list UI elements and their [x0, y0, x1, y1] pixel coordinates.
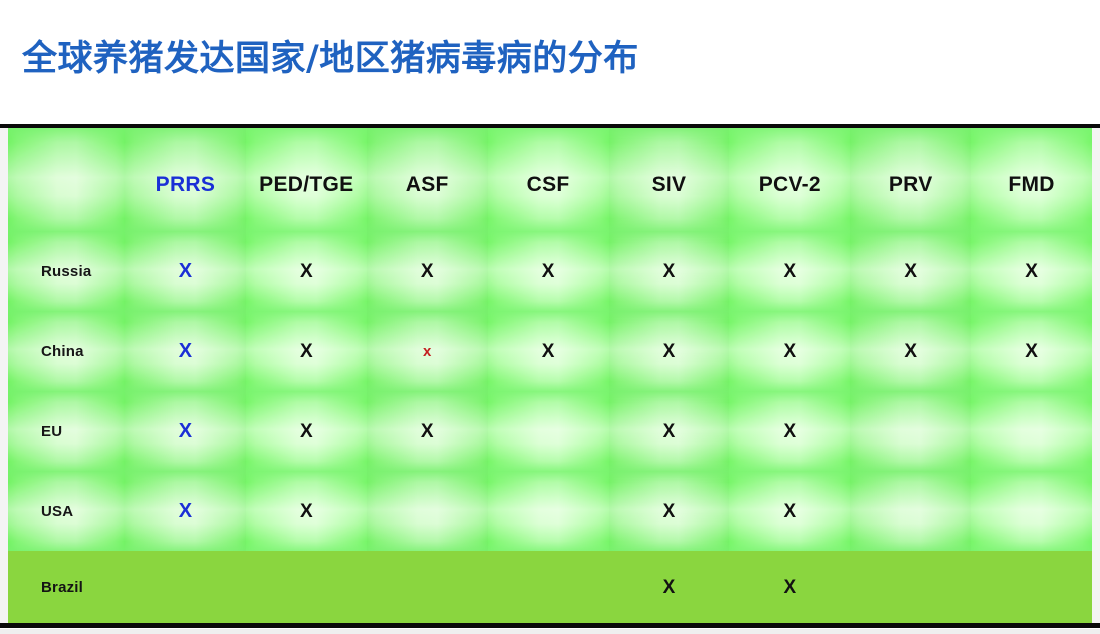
table-cell	[246, 551, 367, 623]
table-cell	[488, 391, 609, 471]
column-header-asf: ASF	[367, 128, 488, 231]
table-cell: X	[971, 231, 1092, 311]
cell-mark-x: X	[542, 262, 555, 281]
cell-mark-x: X	[663, 578, 676, 597]
cell-mark-x: X	[300, 502, 313, 521]
table-cell: X	[729, 471, 850, 551]
cell-mark-x: X	[904, 262, 917, 281]
column-header-csf: CSF	[488, 128, 609, 231]
table-cell: x	[367, 311, 488, 391]
cell-mark-x: X	[663, 262, 676, 281]
page-title: 全球养猪发达国家/地区猪病毒病的分布	[22, 36, 639, 82]
table-cell: X	[125, 391, 246, 471]
disease-distribution-table-frame: PRRSPED/TGEASFCSFSIVPCV-2PRVFMDRussiaXXX…	[0, 124, 1100, 628]
cell-mark-x: X	[663, 422, 676, 441]
table-cell: X	[850, 231, 971, 311]
table-cell: X	[246, 231, 367, 311]
table-cell	[367, 551, 488, 623]
row-label-usa: USA	[8, 471, 125, 551]
row-label-brazil: Brazil	[8, 551, 125, 623]
cell-mark-x: X	[783, 342, 796, 361]
table-cell: X	[609, 391, 730, 471]
table-cell: X	[609, 551, 730, 623]
cell-mark-x: X	[783, 502, 796, 521]
table-cell: X	[246, 391, 367, 471]
table-cell: X	[125, 311, 246, 391]
cell-mark-x: X	[421, 422, 434, 441]
table-cell: X	[729, 311, 850, 391]
table-grid: PRRSPED/TGEASFCSFSIVPCV-2PRVFMDRussiaXXX…	[8, 128, 1092, 623]
table-cell: X	[125, 471, 246, 551]
table-cell: X	[246, 471, 367, 551]
title-band: 全球养猪发达国家/地区猪病毒病的分布	[0, 0, 1100, 124]
disease-distribution-table: PRRSPED/TGEASFCSFSIVPCV-2PRVFMDRussiaXXX…	[8, 128, 1092, 623]
table-cell	[488, 551, 609, 623]
row-label-china: China	[8, 311, 125, 391]
table-cell: X	[125, 231, 246, 311]
table-cell: X	[729, 231, 850, 311]
slide-page: 全球养猪发达国家/地区猪病毒病的分布 PRRSPED/TGEASFCSFSIVP…	[0, 0, 1100, 634]
table-cell: X	[850, 311, 971, 391]
cell-mark-x: X	[179, 341, 192, 361]
cell-mark-x: X	[783, 578, 796, 597]
cell-mark-x: X	[421, 262, 434, 281]
table-cell	[850, 471, 971, 551]
table-cell	[488, 471, 609, 551]
cell-mark-x: X	[300, 342, 313, 361]
row-label-russia: Russia	[8, 231, 125, 311]
table-cell	[971, 551, 1092, 623]
table-cell	[367, 471, 488, 551]
table-cell	[850, 391, 971, 471]
table-cell: X	[246, 311, 367, 391]
cell-mark-x: X	[663, 342, 676, 361]
column-header-prrs: PRRS	[125, 128, 246, 231]
table-cell	[850, 551, 971, 623]
table-cell: X	[488, 231, 609, 311]
table-cell: X	[367, 391, 488, 471]
cell-mark-x: X	[1025, 342, 1038, 361]
column-header-fmd: FMD	[971, 128, 1092, 231]
cell-mark-x: X	[663, 502, 676, 521]
cell-mark-x: X	[904, 342, 917, 361]
cell-mark-x: x	[423, 344, 431, 359]
table-corner-cell	[8, 128, 125, 231]
cell-mark-x: X	[783, 422, 796, 441]
table-cell: X	[488, 311, 609, 391]
cell-mark-x: X	[300, 422, 313, 441]
cell-mark-x: X	[179, 501, 192, 521]
table-cell	[971, 391, 1092, 471]
table-cell: X	[729, 551, 850, 623]
table-cell	[125, 551, 246, 623]
table-cell: X	[367, 231, 488, 311]
table-cell: X	[609, 471, 730, 551]
cell-mark-x: X	[1025, 262, 1038, 281]
cell-mark-x: X	[179, 261, 192, 281]
table-right-margin	[1092, 128, 1100, 623]
table-left-margin	[0, 128, 8, 623]
table-cell: X	[609, 311, 730, 391]
table-cell: X	[971, 311, 1092, 391]
table-cell: X	[609, 231, 730, 311]
cell-mark-x: X	[300, 262, 313, 281]
slide-bottom-strip	[0, 629, 1100, 634]
cell-mark-x: X	[783, 262, 796, 281]
column-header-siv: SIV	[609, 128, 730, 231]
cell-mark-x: X	[179, 421, 192, 441]
table-cell: X	[729, 391, 850, 471]
table-cell	[971, 471, 1092, 551]
row-label-eu: EU	[8, 391, 125, 471]
cell-mark-x: X	[542, 342, 555, 361]
column-header-ped-tge: PED/TGE	[246, 128, 367, 231]
column-header-prv: PRV	[850, 128, 971, 231]
column-header-pcv-2: PCV-2	[729, 128, 850, 231]
